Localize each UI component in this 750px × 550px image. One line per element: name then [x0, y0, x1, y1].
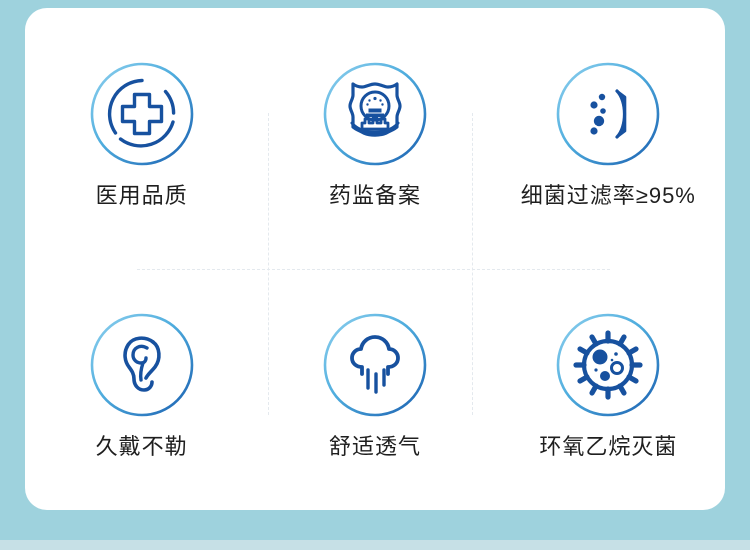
particle-filter-icon [555, 61, 661, 167]
feature-item-bacterial-filtration: 细菌过滤率≥95% [492, 8, 725, 259]
feature-label: 久戴不勒 [96, 436, 188, 458]
medical-cross-icon [89, 61, 195, 167]
feature-item-medical-quality: 医用品质 [25, 8, 258, 259]
feature-label: 环氧乙烷灭菌 [539, 436, 677, 458]
ear-icon [89, 312, 195, 418]
feature-item-eo-sterilized: 环氧乙烷灭菌 [492, 259, 725, 510]
national-emblem-badge-icon [322, 61, 428, 167]
feature-card: 医用品质 [25, 8, 725, 510]
feature-label: 细菌过滤率≥95% [521, 185, 696, 207]
feature-item-breathable: 舒适透气 [258, 259, 491, 510]
germ-virus-icon [555, 312, 661, 418]
feature-label: 舒适透气 [329, 436, 421, 458]
feature-item-comfortable-ear-loops: 久戴不勒 [25, 259, 258, 510]
feature-grid: 医用品质 [25, 8, 725, 510]
cloud-rain-icon [322, 312, 428, 418]
feature-label: 药监备案 [329, 185, 421, 207]
feature-item-drug-administration-filing: 药监备案 [258, 8, 491, 259]
bottom-accent-band [0, 540, 750, 550]
feature-label: 医用品质 [96, 185, 188, 207]
product-feature-panel: 医用品质 [0, 0, 750, 550]
